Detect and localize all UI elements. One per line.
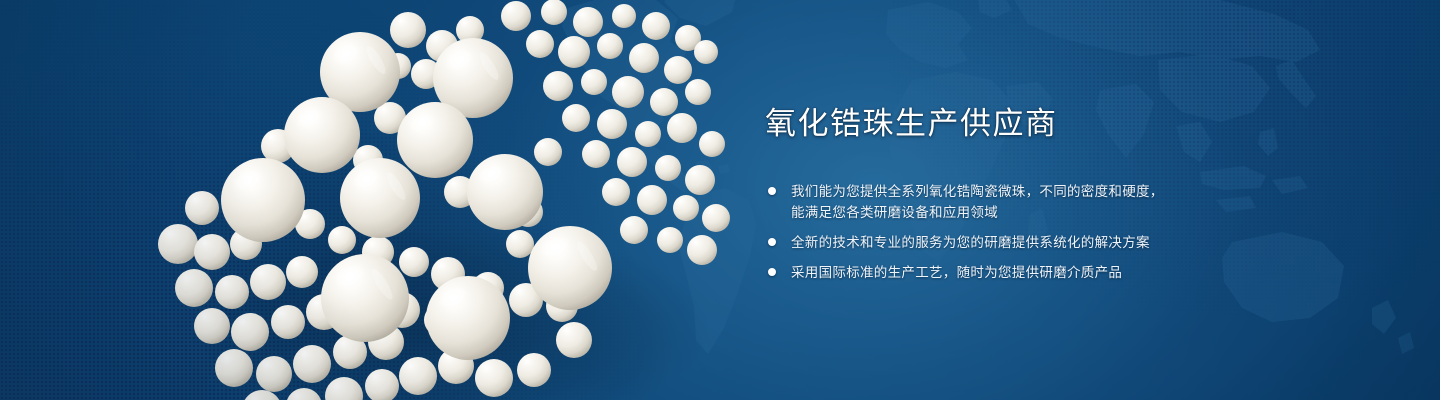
banner-copy: 氧化锆珠生产供应商 我们能为您提供全系列氧化锆陶瓷微珠，不同的密度和硬度， 能满… (765, 108, 1365, 283)
bullet-dot-icon (768, 238, 776, 246)
bullet-item-2-line-1: 全新的技术和专业的服务为您的研磨提供系统化的解决方案 (791, 232, 1365, 253)
bullet-dot-icon (768, 268, 776, 276)
bullet-item-3-line-1: 采用国际标准的生产工艺，随时为您提供研磨介质产品 (791, 262, 1365, 283)
banner-bullet-list: 我们能为您提供全系列氧化锆陶瓷微珠，不同的密度和硬度， 能满足您各类研磨设备和应… (765, 181, 1365, 283)
bullet-item-1-line-2: 能满足您各类研磨设备和应用领域 (791, 202, 1365, 223)
bullet-item-1-line-1: 我们能为您提供全系列氧化锆陶瓷微珠，不同的密度和硬度， (791, 181, 1365, 202)
bullet-item-2: 全新的技术和专业的服务为您的研磨提供系统化的解决方案 (765, 232, 1365, 253)
bullet-item-1: 我们能为您提供全系列氧化锆陶瓷微珠，不同的密度和硬度， 能满足您各类研磨设备和应… (765, 181, 1365, 223)
bullet-dot-icon (768, 187, 776, 195)
promo-banner: 氧化锆珠生产供应商 我们能为您提供全系列氧化锆陶瓷微珠，不同的密度和硬度， 能满… (0, 0, 1440, 400)
banner-headline: 氧化锆珠生产供应商 (765, 108, 1365, 141)
bullet-item-3: 采用国际标准的生产工艺，随时为您提供研磨介质产品 (765, 262, 1365, 283)
